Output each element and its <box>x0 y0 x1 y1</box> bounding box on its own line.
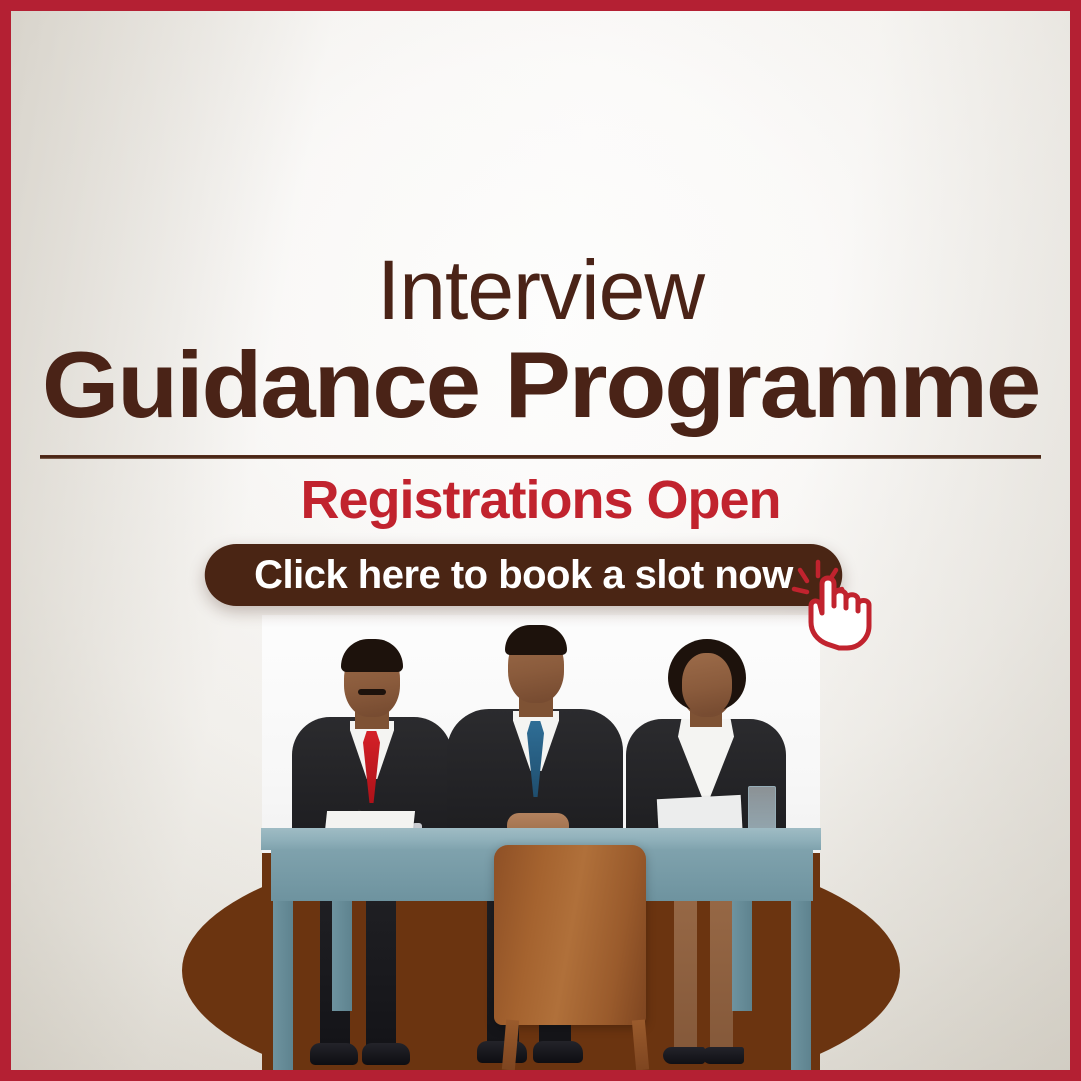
panelist-left-shoe-b <box>362 1043 410 1065</box>
headline-line-1: Interview <box>11 247 1070 333</box>
poster-canvas: Interview Guidance Programme Registratio… <box>11 11 1070 1070</box>
headline-divider <box>40 455 1041 459</box>
desk-leg-left-outer <box>273 901 293 1070</box>
panelist-center <box>435 621 635 861</box>
headline-block: Interview Guidance Programme <box>11 247 1070 435</box>
poster-root: Interview Guidance Programme Registratio… <box>0 0 1081 1081</box>
panelist-right-heel-a <box>663 1047 705 1064</box>
panelist-center-hair <box>505 625 567 655</box>
panelist-left-shoe-a <box>310 1043 358 1065</box>
studio-photo <box>262 615 820 1070</box>
panel-photo <box>11 615 1070 1070</box>
desk-leg-right-outer <box>791 901 811 1070</box>
panelist-left-moustache <box>358 689 386 695</box>
subheadline: Registrations Open <box>11 470 1070 530</box>
desk-leg-right-inner <box>732 901 752 1011</box>
panelist-center-shoe-b <box>533 1041 583 1063</box>
panelist-left-hair <box>341 639 403 672</box>
water-glass <box>748 786 776 833</box>
book-slot-button[interactable]: Click here to book a slot now <box>205 544 843 606</box>
desk-leg-left-inner <box>332 901 352 1011</box>
panelist-right-heel-b <box>702 1047 744 1064</box>
panelist-right-face <box>682 653 732 715</box>
headline-line-2: Guidance Programme <box>11 335 1070 435</box>
book-slot-button-label: Click here to book a slot now <box>254 553 793 598</box>
wooden-chair-back <box>494 845 646 1025</box>
